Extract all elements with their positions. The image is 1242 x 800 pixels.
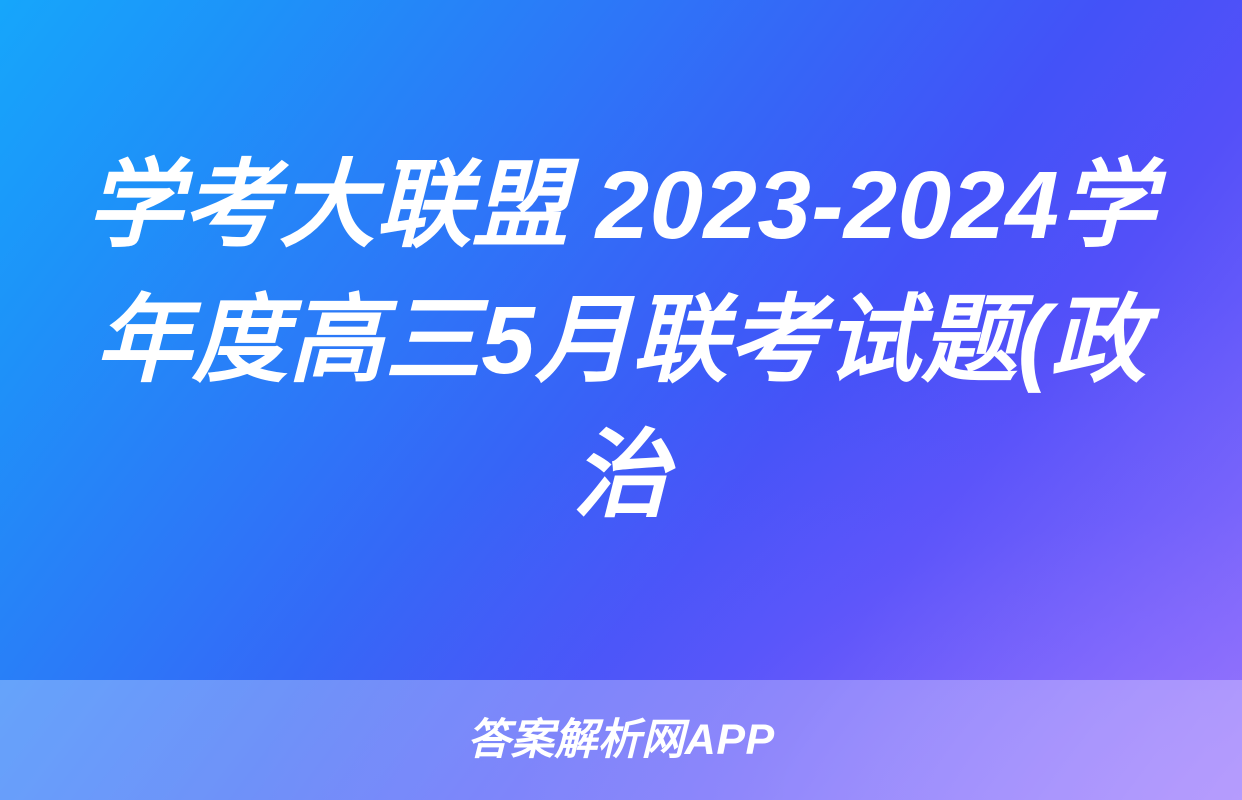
- watermark-text: 答案解析网APP: [467, 719, 774, 762]
- footer-watermark-band: 答案解析网APP: [0, 680, 1242, 800]
- poster-canvas: 学考大联盟 2023-2024学年度高三5月联考试题(政治 答案解析网APP: [0, 0, 1242, 800]
- title-area: 学考大联盟 2023-2024学年度高三5月联考试题(政治: [0, 0, 1242, 680]
- page-title: 学考大联盟 2023-2024学年度高三5月联考试题(政治: [76, 138, 1166, 543]
